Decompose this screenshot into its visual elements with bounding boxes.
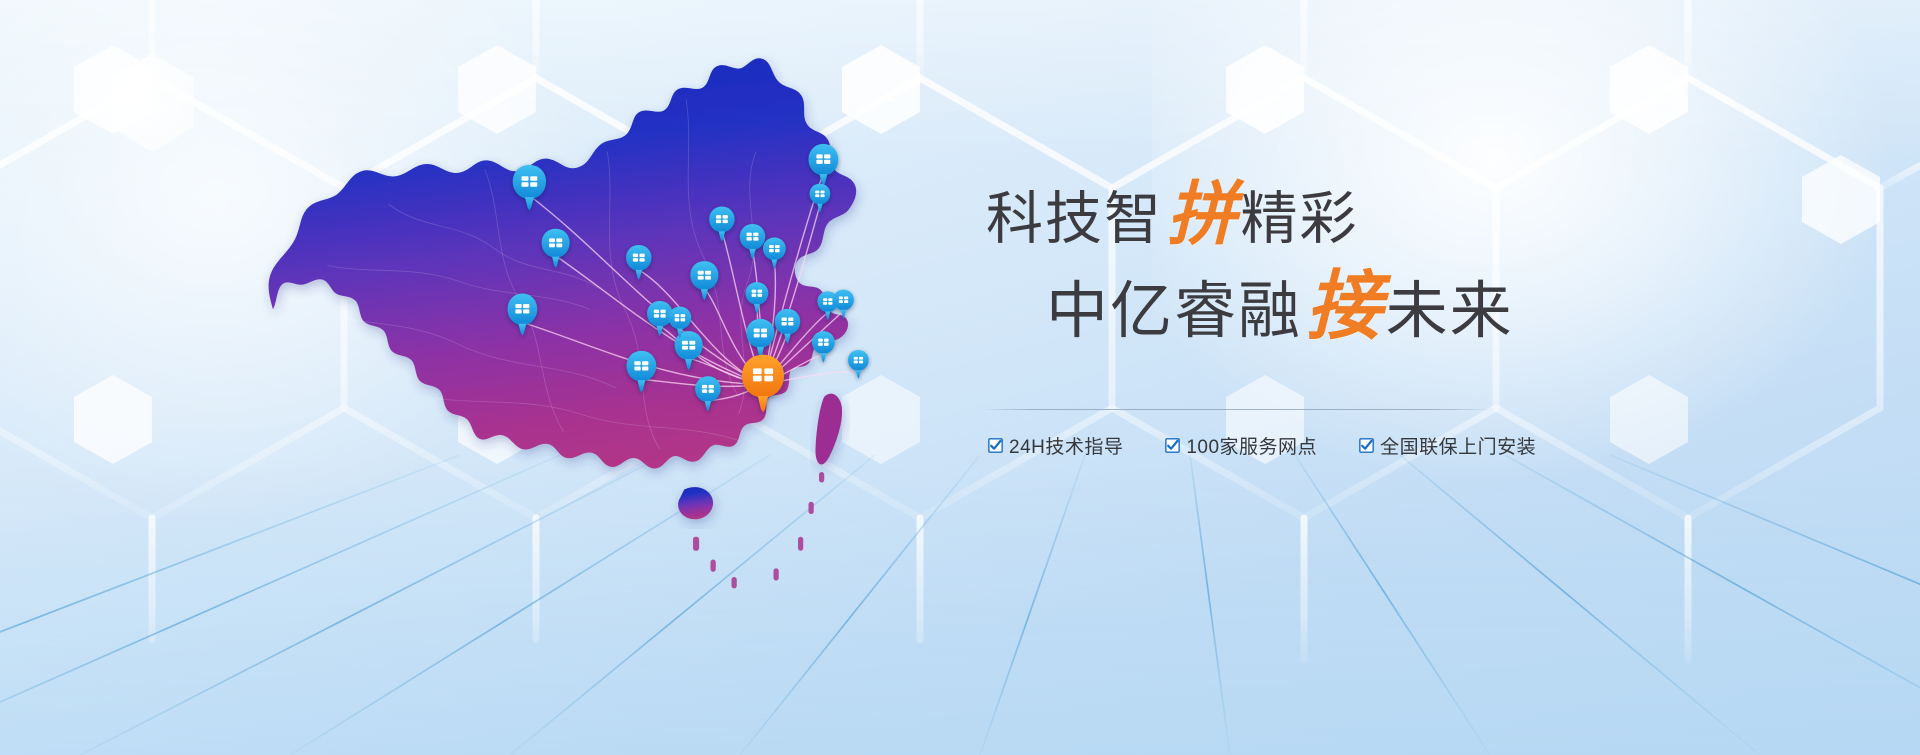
headline-line1-suffix: 精彩 (1241, 188, 1359, 251)
check-box-icon (1165, 438, 1180, 453)
feature-label: 100家服务网点 (1186, 432, 1317, 459)
feature-item-2: 100家服务网点 (1165, 432, 1317, 459)
headline-line2-suffix: 未来 (1386, 278, 1514, 346)
china-map (196, 18, 896, 618)
headline-line2-prefix: 中亿睿融 (1046, 278, 1302, 346)
headline-line1-accent: 拼 (1163, 174, 1241, 255)
feature-item-1: 24H技术指导 (988, 432, 1123, 459)
feature-list: 24H技术指导 100家服务网点 全国联保上门安装 (988, 432, 1536, 459)
check-box-icon (988, 438, 1003, 453)
feature-item-3: 全国联保上门安装 (1359, 432, 1536, 459)
headline-line2-accent: 接 (1302, 261, 1386, 350)
check-box-icon (1359, 438, 1374, 453)
headline-line1-prefix: 科技智 (986, 188, 1163, 251)
feature-label: 全国联保上门安装 (1380, 432, 1536, 459)
headline-divider (982, 409, 1492, 410)
headline-line-2: 中亿睿融接未来 (972, 266, 1612, 346)
hero-banner: 科技智拼精彩 中亿睿融接未来 24H技术指导 100家服务网点 全国联保上门安装 (0, 0, 1920, 755)
hero-copy: 科技智拼精彩 中亿睿融接未来 (972, 178, 1612, 346)
headline-line-1: 科技智拼精彩 (972, 178, 1612, 252)
feature-label: 24H技术指导 (1009, 432, 1123, 459)
